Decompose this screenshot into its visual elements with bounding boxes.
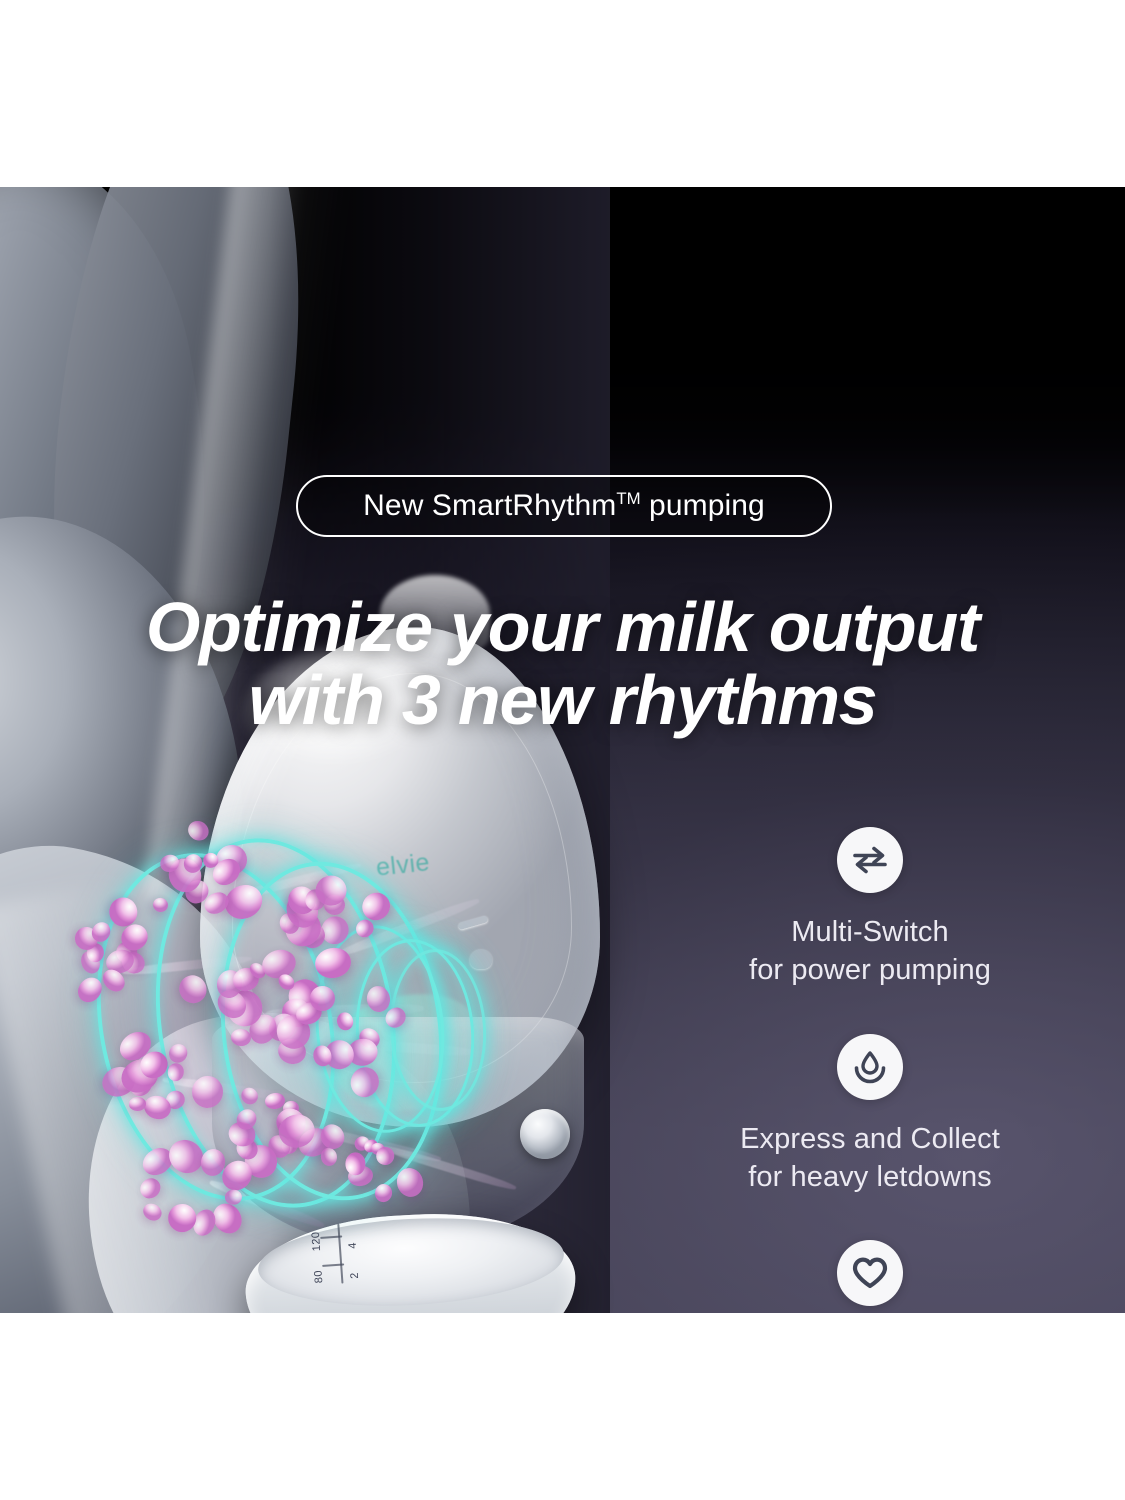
product-banner-page: elvie 120 80 4 2 — [0, 0, 1125, 1500]
feature-label: Express and Collect for heavy letdowns — [640, 1120, 1100, 1197]
alveolus — [128, 1097, 146, 1111]
smartrhythm-badge: New SmartRhythmTM pumping — [296, 475, 832, 537]
trademark-symbol: TM — [616, 489, 640, 508]
badge-prefix: New SmartRhythm — [363, 489, 616, 522]
feature-list: Multi-Switch for power pumping Express a… — [640, 827, 1100, 1313]
feature-line-1: Express and Collect — [640, 1120, 1100, 1158]
feature-label: Multi-Switch for power pumping — [640, 913, 1100, 990]
droplet-bowl-icon — [837, 1034, 903, 1100]
headline-line-1: Optimize your milk output — [146, 588, 979, 666]
feature-line-2: for power pumping — [640, 951, 1100, 989]
page-title: Optimize your milk output with 3 new rhy… — [0, 591, 1125, 737]
alveolus — [225, 1189, 242, 1205]
badge-suffix: pumping — [641, 489, 765, 522]
feature-express-collect: Express and Collect for heavy letdowns — [640, 1034, 1100, 1197]
feature-line-2: for heavy letdowns — [640, 1158, 1100, 1196]
headline-line-2: with 3 new rhythms — [0, 664, 1125, 737]
hero-artwork: elvie 120 80 4 2 — [0, 187, 1125, 1313]
badge-label: New SmartRhythmTM pumping — [363, 489, 765, 523]
feature-line-1: Multi-Switch — [640, 913, 1100, 951]
alveolus — [345, 1152, 365, 1175]
exchange-arrows-icon — [837, 827, 903, 893]
heart-icon — [837, 1240, 903, 1306]
feature-multi-switch: Multi-Switch for power pumping — [640, 827, 1100, 990]
pump-power-button[interactable] — [520, 1109, 570, 1159]
feature-slow-gentle: Slow and Gentle for sensitive nipples — [640, 1240, 1100, 1313]
